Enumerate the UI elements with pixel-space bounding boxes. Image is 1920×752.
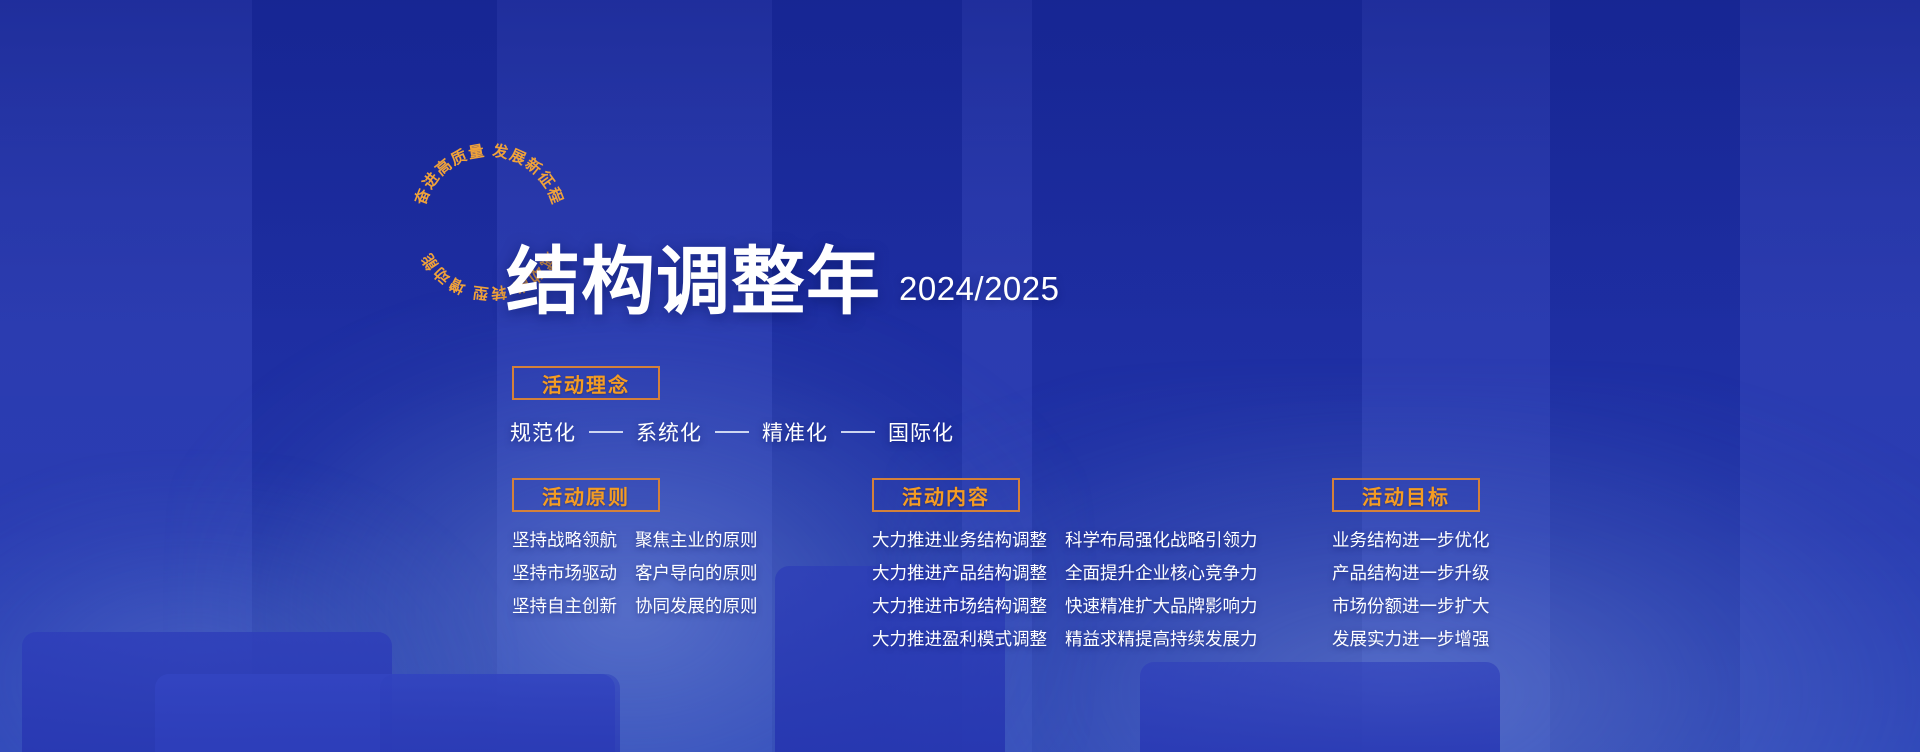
row-text-b: 快速精准扩大品牌影响力 [1065, 593, 1258, 621]
badge-principles: 活动原则 [512, 478, 660, 512]
badge-goals: 活动目标 [1332, 478, 1480, 512]
row-text-b: 聚焦主业的原则 [635, 527, 758, 555]
ring-text-top: 奋进高质量 发展新征程 [410, 141, 566, 209]
row-text-a: 市场份额进一步扩大 [1332, 593, 1490, 621]
principles-rows: 坚持战略领航 聚焦主业的原则 坚持市场驱动 客户导向的原则 坚持自主创新 协同发… [512, 527, 758, 621]
list-item: 坚持市场驱动 客户导向的原则 [512, 560, 758, 588]
list-item: 市场份额进一步扩大 [1332, 593, 1490, 621]
concept-item-0: 规范化 [510, 417, 576, 447]
list-item: 坚持自主创新 协同发展的原则 [512, 593, 758, 621]
concept-separator-0 [589, 431, 623, 433]
list-item: 大力推进盈利模式调整 精益求精提高持续发展力 [872, 626, 1258, 654]
concept-item-1: 系统化 [636, 417, 702, 447]
row-text-b: 客户导向的原则 [635, 560, 758, 588]
list-item: 大力推进产品结构调整 全面提升企业核心竞争力 [872, 560, 1258, 588]
building-block-3 [380, 674, 620, 752]
headline-row: 结构调整年 2024/2025 [506, 247, 1060, 317]
column-principles: 活动原则 坚持战略领航 聚焦主业的原则 坚持市场驱动 客户导向的原则 坚持自主创… [512, 478, 758, 621]
list-item: 产品结构进一步升级 [1332, 560, 1490, 588]
row-text-a: 产品结构进一步升级 [1332, 560, 1490, 588]
badge-contents: 活动内容 [872, 478, 1020, 512]
row-text-b: 全面提升企业核心竞争力 [1065, 560, 1258, 588]
list-item: 大力推进业务结构调整 科学布局强化战略引领力 [872, 527, 1258, 555]
row-text-a: 大力推进市场结构调整 [872, 593, 1047, 621]
building-block-5 [1140, 662, 1500, 752]
list-item: 坚持战略领航 聚焦主业的原则 [512, 527, 758, 555]
row-text-a: 大力推进盈利模式调整 [872, 626, 1047, 654]
row-text-a: 业务结构进一步优化 [1332, 527, 1490, 555]
list-item: 发展实力进一步增强 [1332, 626, 1490, 654]
concept-list: 规范化 系统化 精准化 国际化 [510, 417, 954, 447]
row-text-b: 精益求精提高持续发展力 [1065, 626, 1258, 654]
row-text-b: 科学布局强化战略引领力 [1065, 527, 1258, 555]
row-text-b: 协同发展的原则 [635, 593, 758, 621]
row-text-a: 坚持市场驱动 [512, 560, 617, 588]
row-text-a: 发展实力进一步增强 [1332, 626, 1490, 654]
concept-separator-1 [715, 431, 749, 433]
row-text-a: 大力推进业务结构调整 [872, 527, 1047, 555]
list-item: 大力推进市场结构调整 快速精准扩大品牌影响力 [872, 593, 1258, 621]
concept-item-2: 精准化 [762, 417, 828, 447]
row-text-a: 大力推进产品结构调整 [872, 560, 1047, 588]
list-item: 业务结构进一步优化 [1332, 527, 1490, 555]
concept-separator-2 [841, 431, 875, 433]
page-title: 结构调整年 [506, 247, 881, 317]
column-contents: 活动内容 大力推进业务结构调整 科学布局强化战略引领力 大力推进产品结构调整 全… [872, 478, 1258, 654]
contents-rows: 大力推进业务结构调整 科学布局强化战略引领力 大力推进产品结构调整 全面提升企业… [872, 527, 1258, 654]
poster-banner: 奋进高质量 发展新征程 赋动能 转型 增动能 结构调整年 2024/2025 活… [0, 0, 1920, 752]
badge-concept: 活动理念 [512, 366, 660, 400]
row-text-a: 坚持战略领航 [512, 527, 617, 555]
column-goals: 活动目标 业务结构进一步优化 产品结构进一步升级 市场份额进一步扩大 发展实力进… [1332, 478, 1490, 654]
row-text-a: 坚持自主创新 [512, 593, 617, 621]
concept-item-3: 国际化 [888, 417, 954, 447]
year-range: 2024/2025 [899, 270, 1060, 317]
goals-rows: 业务结构进一步优化 产品结构进一步升级 市场份额进一步扩大 发展实力进一步增强 [1332, 527, 1490, 654]
